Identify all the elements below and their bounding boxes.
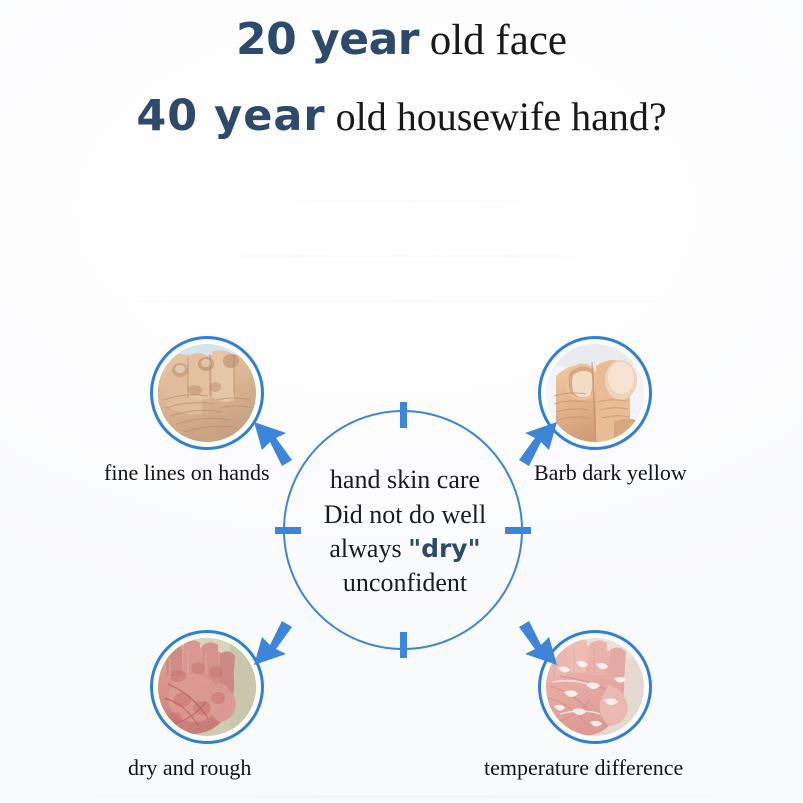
texture-streak <box>60 300 760 302</box>
hub-line-3-prefix: always <box>329 534 408 563</box>
label-temperature-difference: temperature difference <box>484 757 683 779</box>
texture-streak <box>120 255 680 257</box>
arrow-to-dry-and-rough <box>248 615 306 673</box>
poster-canvas: 20 year old face 40 year old housewife h… <box>0 0 803 803</box>
hub-line-3: always "dry" <box>329 532 480 566</box>
headline-2-emphasis: 40 year <box>136 91 325 141</box>
label-dry-and-rough: dry and rough <box>128 757 251 779</box>
node-fine-lines-photo[interactable] <box>150 336 264 450</box>
arrow-to-temperature-difference <box>505 615 563 673</box>
headline-1-rest: old face <box>419 17 567 64</box>
hub-text-block: hand skin care Did not do well always "d… <box>285 412 525 652</box>
headline-1-emphasis: 20 year <box>236 14 419 65</box>
node-dry-and-rough-photo[interactable] <box>150 630 264 744</box>
red-dry-palm-image <box>158 638 256 736</box>
central-hub-circle: hand skin care Did not do well always "d… <box>283 410 523 650</box>
headline-line-1: 20 year old face <box>0 18 803 62</box>
label-barb-dark-yellow: Barb dark yellow <box>534 462 687 484</box>
hub-line-2: Did not do well <box>324 498 487 532</box>
label-fine-lines-on-hands: fine lines on hands <box>104 462 270 484</box>
texture-streak <box>40 795 770 798</box>
hub-line-1: hand skin care <box>330 463 480 497</box>
hand-back-fine-lines-image <box>158 344 256 442</box>
hub-dry-emphasis: "dry" <box>408 534 481 563</box>
texture-streak <box>200 200 620 202</box>
headline-line-2: 40 year old housewife hand? <box>0 95 803 138</box>
hub-line-4: unconfident <box>343 566 467 600</box>
headline-2-rest: old housewife hand? <box>326 94 667 139</box>
